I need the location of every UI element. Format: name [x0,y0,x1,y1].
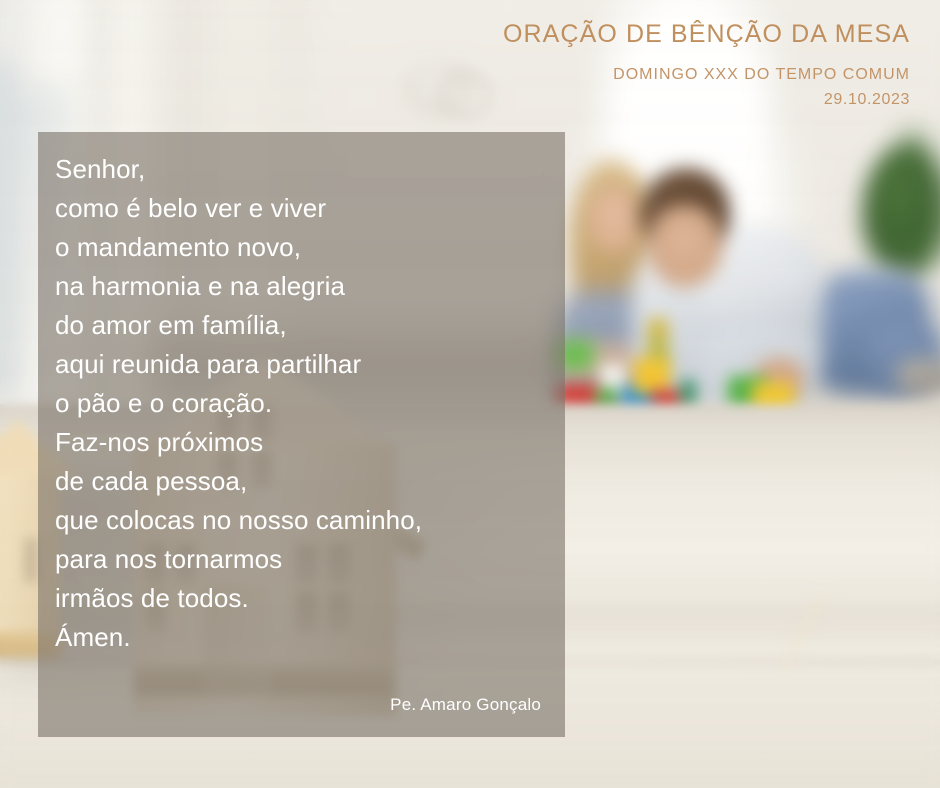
man-face [648,205,722,287]
floor-highlight [745,588,865,668]
prayer-line: Ámen. [55,618,545,657]
prayer-poster: ORAÇÃO DE BÊNÇÃO DA MESA DOMINGO XXX DO … [0,0,940,788]
toy-block-yellow [634,358,670,394]
page-title: ORAÇÃO DE BÊNÇÃO DA MESA [503,18,910,51]
prayer-line: irmãos de todos. [55,579,545,618]
toy-block-teal [680,380,696,406]
prayer-overlay-panel: Senhor, como é belo ver e viver o mandam… [38,132,565,737]
prayer-line: que colocas no nosso caminho, [55,501,545,540]
small-house-window [24,538,38,582]
prayer-line: o pão e o coração. [55,384,545,423]
prayer-text: Senhor, como é belo ver e viver o mandam… [55,150,545,657]
prayer-line: aqui reunida para partilhar [55,345,545,384]
prayer-line: como é belo ver e viver [55,189,545,228]
man-shoe [896,358,940,394]
prayer-line: o mandamento novo, [55,228,545,267]
prayer-author: Pe. Amaro Gonçalo [390,695,541,715]
prayer-line: para nos tornarmos [55,540,545,579]
potted-plant [862,148,940,280]
prayer-line: Faz-nos próximos [55,423,545,462]
woman-face [588,186,640,252]
prayer-line: de cada pessoa, [55,462,545,501]
lamp-ring [438,72,492,118]
prayer-line: Senhor, [55,150,545,189]
date-label: 29.10.2023 [503,91,910,109]
poster-header: ORAÇÃO DE BÊNÇÃO DA MESA DOMINGO XXX DO … [503,18,910,109]
liturgical-subtitle: DOMINGO XXX DO TEMPO COMUM [503,66,910,84]
prayer-line: do amor em família, [55,306,545,345]
prayer-line: na harmonia e na alegria [55,267,545,306]
